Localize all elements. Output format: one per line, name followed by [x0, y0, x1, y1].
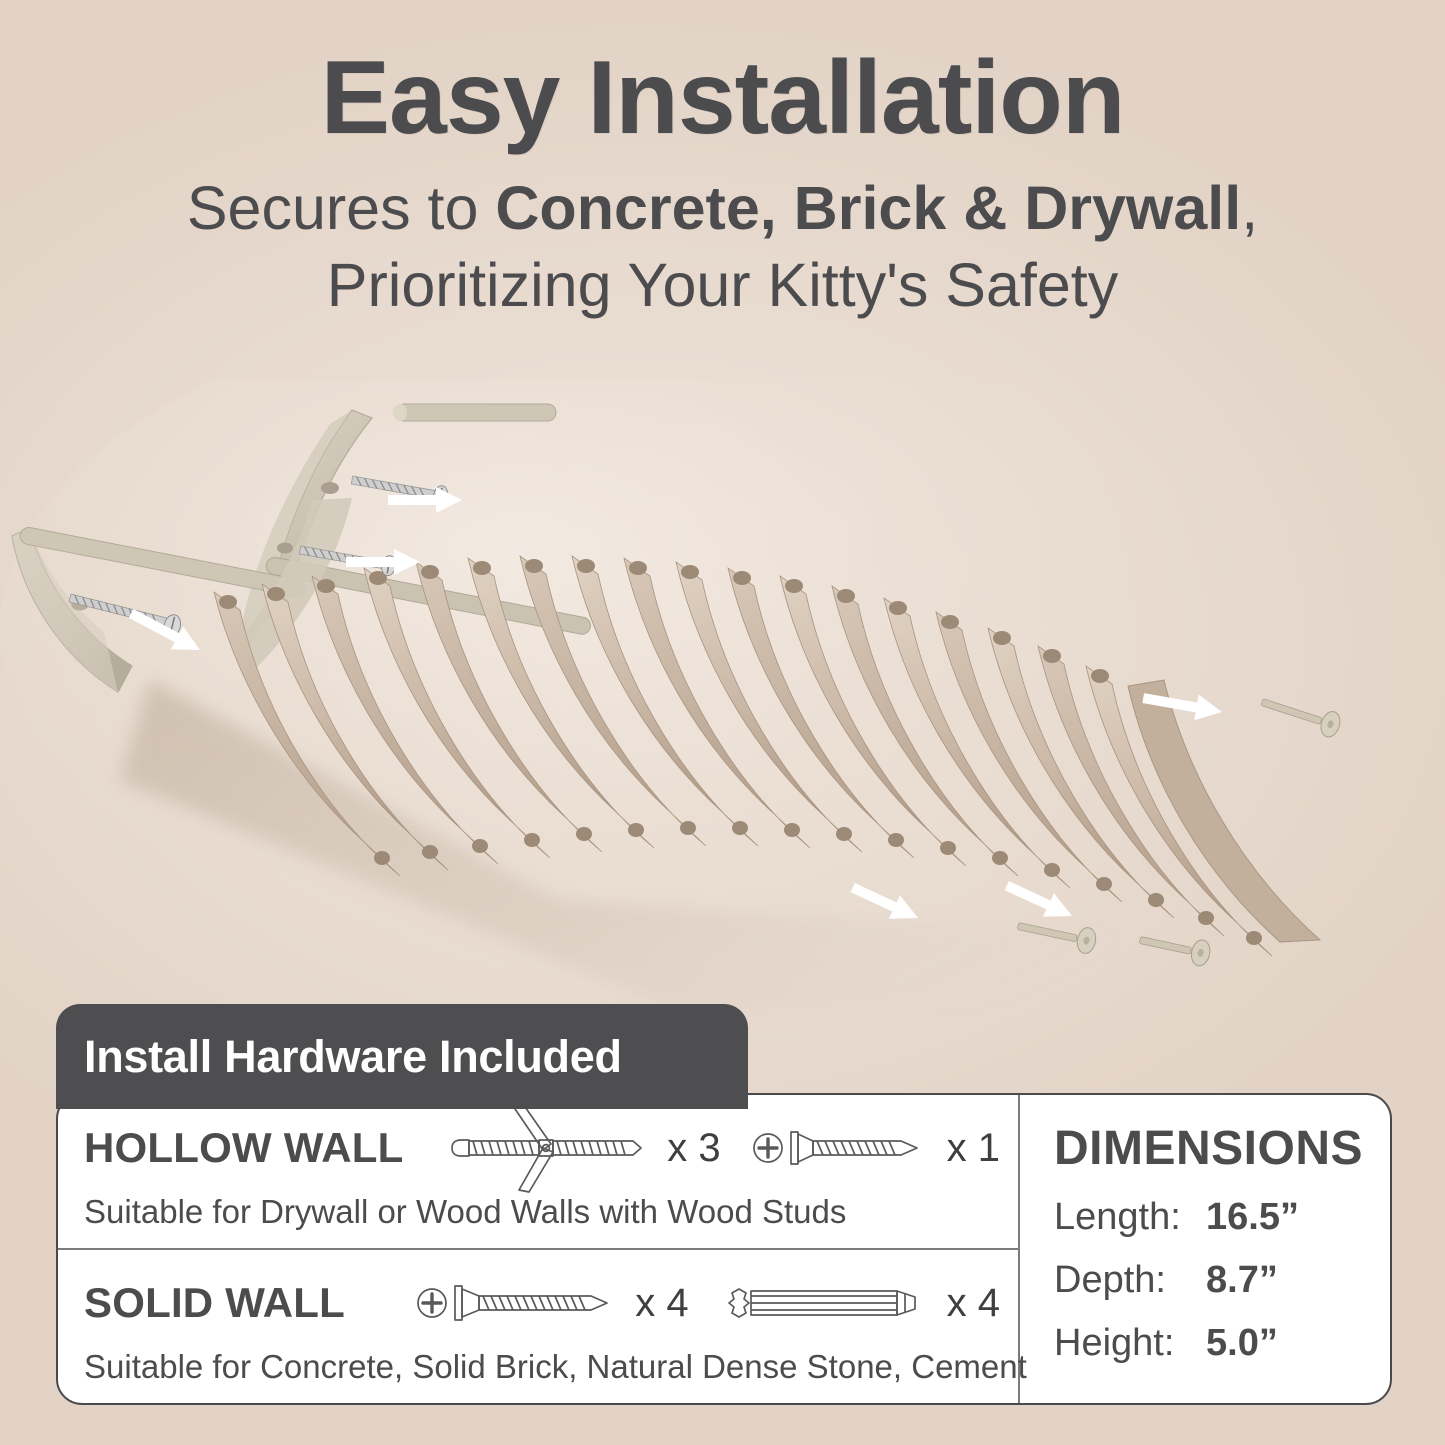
- solid-wall-screw-qty: x 4: [635, 1281, 688, 1326]
- hollow-wall-toggle-bolt-qty: x 3: [667, 1126, 720, 1171]
- dimension-value-height: 5.0”: [1206, 1322, 1278, 1365]
- phillips-screw-icon: [415, 1275, 621, 1331]
- dimensions-column: DIMENSIONS Length: 16.5” Depth: 8.7” Hei…: [1020, 1095, 1390, 1403]
- subtitle-suffix: ,: [1241, 174, 1258, 242]
- solid-wall-item-anchor: x 4: [719, 1275, 1000, 1331]
- dimension-row-length: Length: 16.5”: [1054, 1196, 1390, 1239]
- subtitle-prefix: Secures to: [187, 174, 496, 242]
- solid-wall-item-screw: x 4: [415, 1275, 688, 1331]
- dimension-label-height: Height:: [1054, 1322, 1206, 1365]
- hardware-row-hollow-wall: HOLLOW WALL: [58, 1095, 1018, 1250]
- wall-anchor-icon: [719, 1275, 933, 1331]
- solid-wall-label: SOLID WALL: [84, 1279, 345, 1327]
- toggle-bolt-icon: [447, 1102, 653, 1194]
- install-hardware-tab: Install Hardware Included: [56, 1004, 748, 1109]
- hollow-wall-label: HOLLOW WALL: [84, 1124, 403, 1172]
- hardware-column: HOLLOW WALL: [58, 1095, 1020, 1403]
- infographic-canvas: Easy Installation Secures to Concrete, B…: [0, 0, 1445, 1445]
- dimension-value-depth: 8.7”: [1206, 1259, 1278, 1302]
- heading-block: Easy Installation Secures to Concrete, B…: [0, 44, 1445, 322]
- subtitle-line-2: Prioritizing Your Kitty's Safety: [0, 248, 1445, 322]
- hardware-row-solid-wall: SOLID WALL: [58, 1250, 1018, 1403]
- dimension-label-depth: Depth:: [1054, 1259, 1206, 1302]
- dimension-label-length: Length:: [1054, 1196, 1206, 1239]
- hollow-wall-description: Suitable for Drywall or Wood Walls with …: [84, 1193, 1018, 1231]
- solid-wall-anchor-qty: x 4: [947, 1281, 1000, 1326]
- install-hardware-tab-label: Install Hardware Included: [56, 1031, 622, 1083]
- subtitle-line-1: Secures to Concrete, Brick & Drywall,: [0, 171, 1445, 245]
- dimension-row-height: Height: 5.0”: [1054, 1322, 1390, 1365]
- hardware-dimensions-card: HOLLOW WALL: [56, 1093, 1392, 1405]
- hollow-wall-item-toggle-bolt: x 3: [447, 1102, 720, 1194]
- dimension-row-depth: Depth: 8.7”: [1054, 1259, 1390, 1302]
- phillips-screw-icon: [751, 1120, 933, 1176]
- dimension-value-length: 16.5”: [1206, 1196, 1299, 1239]
- solid-wall-description: Suitable for Concrete, Solid Brick, Natu…: [84, 1348, 1018, 1386]
- hollow-wall-screw-qty: x 1: [947, 1126, 1000, 1171]
- subtitle-bold: Concrete, Brick & Drywall: [495, 174, 1241, 242]
- page-title: Easy Installation: [0, 44, 1445, 153]
- product-image: [0, 380, 1445, 1040]
- hollow-wall-item-screw: x 1: [751, 1120, 1000, 1176]
- dimensions-title: DIMENSIONS: [1054, 1121, 1390, 1176]
